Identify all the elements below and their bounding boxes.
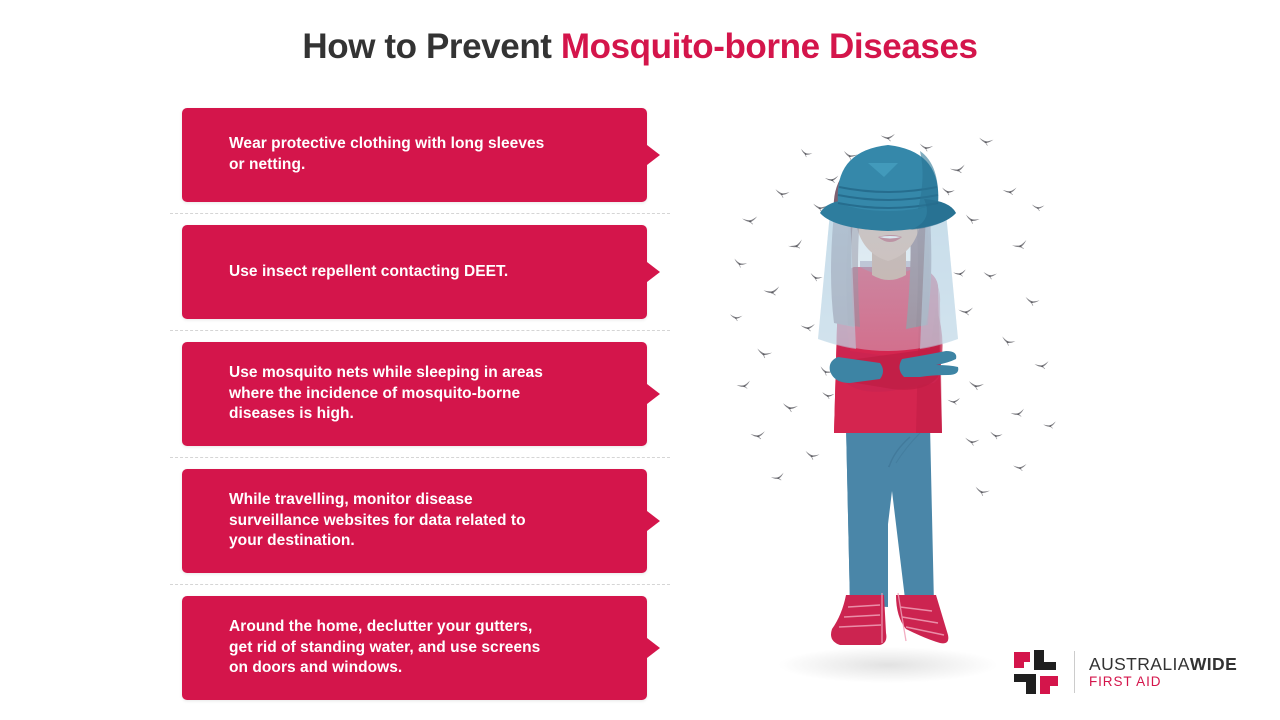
ground-shadow — [778, 647, 998, 683]
logo-brand-wide: WIDE — [1190, 654, 1237, 674]
logo-divider — [1074, 651, 1075, 693]
separator-1 — [170, 213, 670, 214]
list-item: Use mosquito nets while sleeping in area… — [170, 342, 670, 446]
tip-card-1-text: Wear protective clothing with long sleev… — [229, 134, 544, 175]
tip-arrow-icon-1 — [647, 145, 660, 165]
illustration-woman-with-mosquito-net — [720, 95, 1080, 685]
separator-2 — [170, 330, 670, 331]
logo-tagline: FIRST AID — [1089, 674, 1237, 690]
woman-figure — [818, 145, 958, 645]
tip-card-5[interactable]: Around the home, declutter your gutters,… — [182, 596, 647, 700]
list-item: Around the home, declutter your gutters,… — [170, 596, 670, 700]
boots — [831, 593, 948, 645]
tip-card-2[interactable]: Use insect repellent contacting DEET. — [182, 225, 647, 319]
tip-card-5-text: Around the home, declutter your gutters,… — [229, 617, 540, 679]
tips-list: Wear protective clothing with long sleev… — [170, 108, 670, 700]
separator-4 — [170, 584, 670, 585]
page-title-accent-part: Mosquito-borne Diseases — [561, 27, 978, 66]
list-item: Wear protective clothing with long sleev… — [170, 108, 670, 202]
page-title: How to Prevent Mosquito-borne Diseases — [0, 28, 1280, 67]
tip-arrow-icon-2 — [647, 262, 660, 282]
tip-card-2-text: Use insect repellent contacting DEET. — [229, 262, 508, 283]
list-item: While travelling, monitor disease survei… — [170, 469, 670, 573]
tip-card-3[interactable]: Use mosquito nets while sleeping in area… — [182, 342, 647, 446]
list-item: Use insect repellent contacting DEET. — [170, 225, 670, 319]
infographic-page: How to Prevent Mosquito-borne Diseases W… — [0, 0, 1280, 720]
tip-card-4-text: While travelling, monitor disease survei… — [229, 490, 526, 552]
australia-wide-first-aid-cross-icon — [1012, 648, 1060, 696]
tip-card-3-text: Use mosquito nets while sleeping in area… — [229, 363, 543, 425]
logo-brand-australia: AUSTRALIA — [1089, 654, 1190, 674]
bucket-hat — [820, 145, 956, 231]
logo-brand-name: AUSTRALIAWIDE — [1089, 654, 1237, 675]
tip-card-4[interactable]: While travelling, monitor disease survei… — [182, 469, 647, 573]
page-title-dark-part: How to Prevent — [302, 27, 560, 66]
mosquito-net-veil — [818, 213, 958, 351]
tip-arrow-icon-5 — [647, 638, 660, 658]
tip-arrow-icon-4 — [647, 511, 660, 531]
page-title-container: How to Prevent Mosquito-borne Diseases — [0, 28, 1280, 67]
brand-logo: AUSTRALIAWIDE FIRST AID — [1012, 648, 1237, 696]
logo-wordmark: AUSTRALIAWIDE FIRST AID — [1089, 654, 1237, 691]
tip-arrow-icon-3 — [647, 384, 660, 404]
separator-3 — [170, 457, 670, 458]
tip-card-1[interactable]: Wear protective clothing with long sleev… — [182, 108, 647, 202]
